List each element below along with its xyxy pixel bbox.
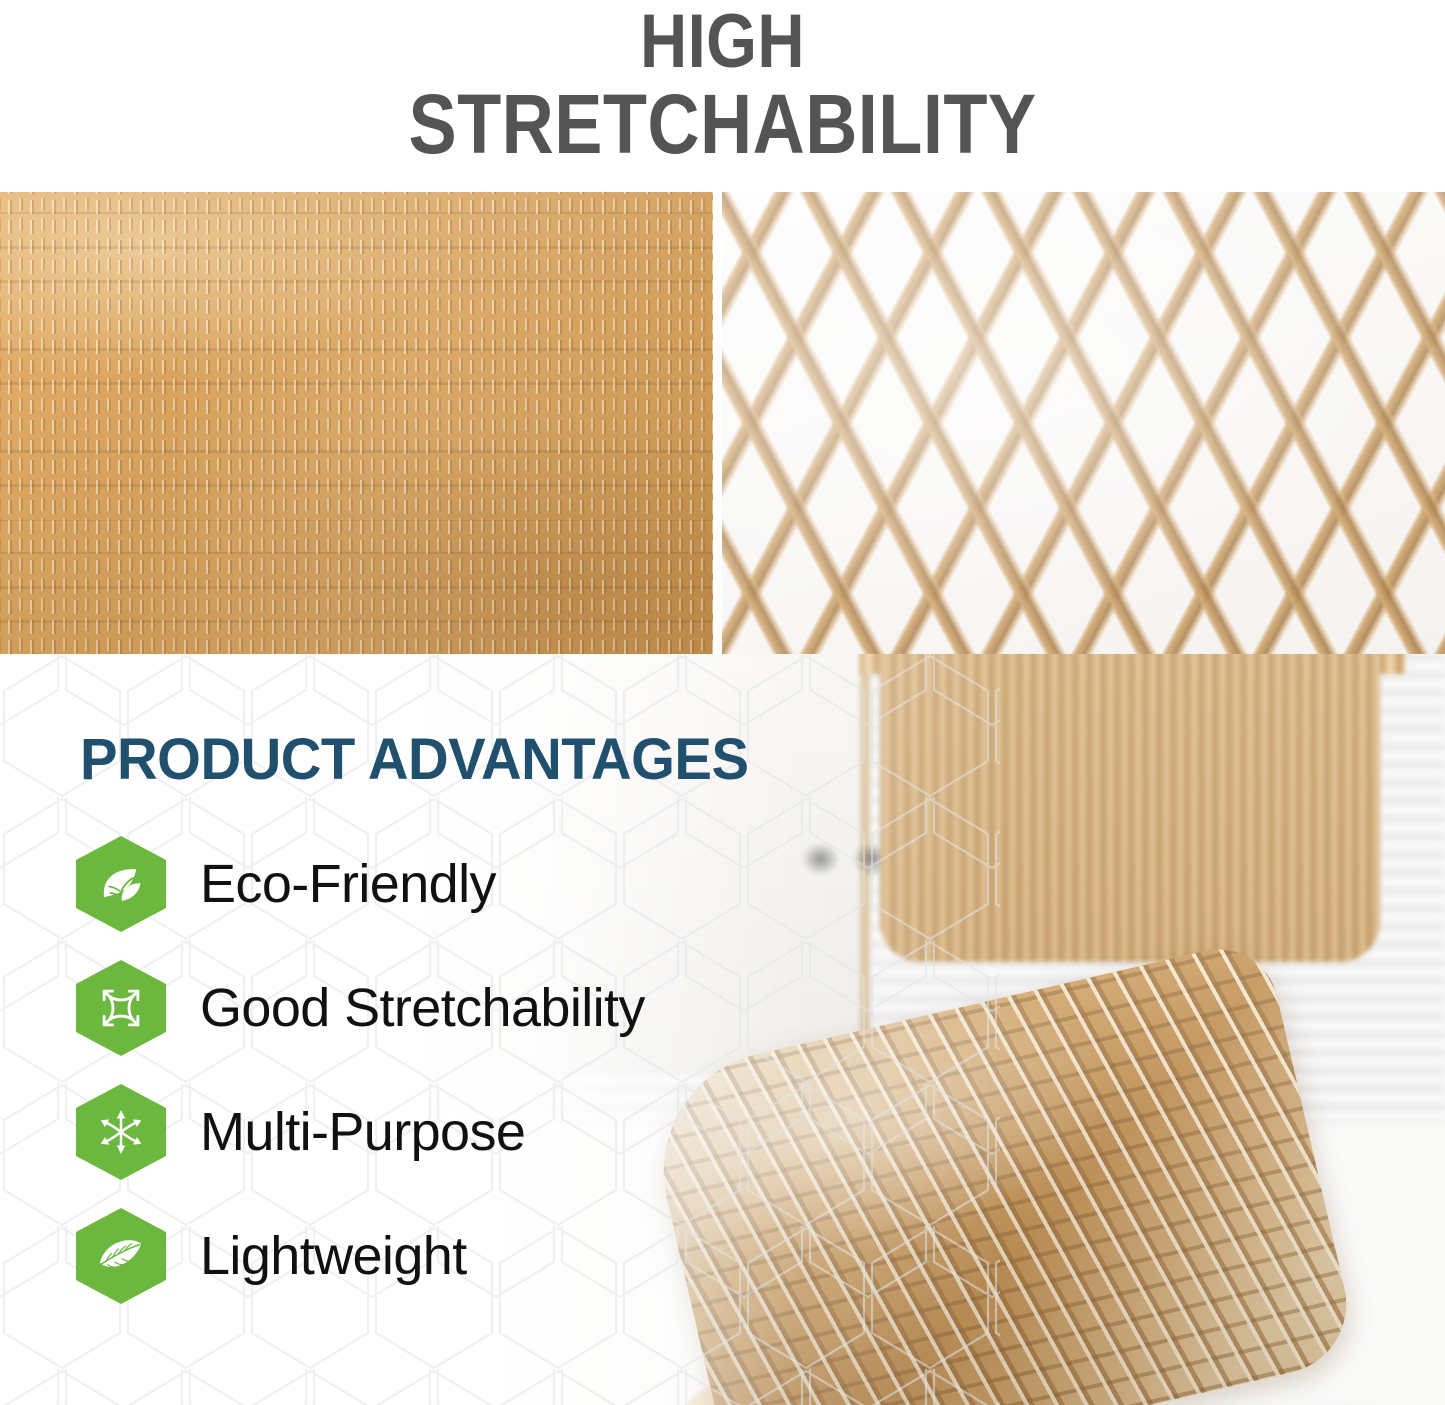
advantage-item-multi-purpose[interactable]: Multi-Purpose: [76, 1070, 836, 1194]
header-banner: HIGH STRETCHABILITY: [0, 0, 1445, 192]
wicker-basket: [880, 654, 1380, 962]
badge-lightweight: [76, 1208, 166, 1304]
page-title-line-1: HIGH: [101, 4, 1344, 80]
advantage-item-lightweight[interactable]: Lightweight: [76, 1194, 836, 1318]
section-heading-product-advantages: PRODUCT ADVANTAGES: [80, 726, 748, 793]
badge-eco-friendly: [76, 836, 166, 932]
advantage-item-eco-friendly[interactable]: Eco-Friendly: [76, 822, 836, 946]
leaf-icon: [94, 857, 148, 911]
badge-good-stretchability: [76, 960, 166, 1056]
feather-icon: [93, 1228, 149, 1284]
advantage-label-eco-friendly: Eco-Friendly: [200, 853, 496, 915]
kraft-shading-overlay: [0, 192, 713, 654]
photo-expanded-honeycomb-mesh: [722, 192, 1445, 654]
advantage-label-lightweight: Lightweight: [200, 1225, 467, 1287]
advantage-label-good-stretchability: Good Stretchability: [200, 977, 645, 1039]
page-title-line-2: STRETCHABILITY: [101, 82, 1344, 166]
photo-unexpanded-honeycomb-paper: [0, 192, 713, 654]
product-infographic: HIGH STRETCHABILITY: [0, 0, 1445, 1405]
multi-direction-arrows-icon: [94, 1105, 148, 1159]
advantage-item-good-stretchability[interactable]: Good Stretchability: [76, 946, 836, 1070]
advantages-list: Eco-Friendly: [76, 822, 836, 1318]
advantage-label-multi-purpose: Multi-Purpose: [200, 1101, 525, 1163]
product-photo-panels: [0, 192, 1445, 654]
stretch-arrows-icon: [94, 981, 148, 1035]
honeycomb-light-overlay: [722, 192, 1445, 654]
badge-multi-purpose: [76, 1084, 166, 1180]
